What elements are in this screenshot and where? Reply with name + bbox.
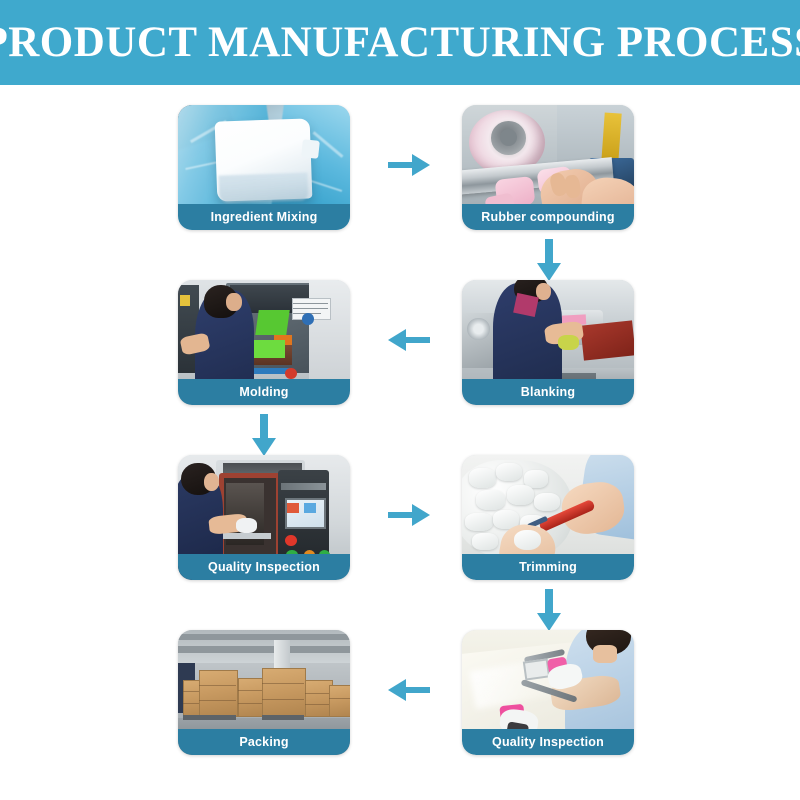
step-card-rubber-compounding[interactable]: Rubber compounding	[462, 105, 634, 230]
step-card-quality-inspection-1[interactable]: Quality Inspection	[178, 455, 350, 580]
step-label-quality-inspection-2: Quality Inspection	[462, 729, 634, 755]
page-title: PRODUCT MANUFACTURING PROCESS	[0, 21, 800, 64]
step-label-ingredient-mixing: Ingredient Mixing	[178, 204, 350, 230]
step-label-blanking: Blanking	[462, 379, 634, 405]
step-label-rubber-compounding: Rubber compounding	[462, 204, 634, 230]
arrow-molding-to-quality-inspection	[247, 412, 281, 458]
step-label-packing: Packing	[178, 729, 350, 755]
header-banner: PRODUCT MANUFACTURING PROCESS	[0, 0, 800, 85]
step-card-ingredient-mixing[interactable]: Ingredient Mixing	[178, 105, 350, 230]
arrow-compounding-to-blanking	[532, 237, 566, 283]
step-card-molding[interactable]: Molding	[178, 280, 350, 405]
manufacturing-process-infographic: PRODUCT MANUFACTURING PROCESS I	[0, 0, 800, 800]
arrow-blanking-to-molding	[386, 323, 432, 357]
step-card-trimming[interactable]: Trimming	[462, 455, 634, 580]
step-card-packing[interactable]: Packing	[178, 630, 350, 755]
step-label-quality-inspection-1: Quality Inspection	[178, 554, 350, 580]
step-label-molding: Molding	[178, 379, 350, 405]
step-card-quality-inspection-2[interactable]: Quality Inspection	[462, 630, 634, 755]
arrow-quality-inspection-to-trimming	[386, 498, 432, 532]
arrow-quality-inspection-2-to-packing	[386, 673, 432, 707]
arrow-trimming-to-quality-inspection-2	[532, 587, 566, 633]
process-grid: Ingredient Mixing	[0, 85, 800, 800]
arrow-mixing-to-compounding	[386, 148, 432, 182]
step-card-blanking[interactable]: Blanking	[462, 280, 634, 405]
step-label-trimming: Trimming	[462, 554, 634, 580]
